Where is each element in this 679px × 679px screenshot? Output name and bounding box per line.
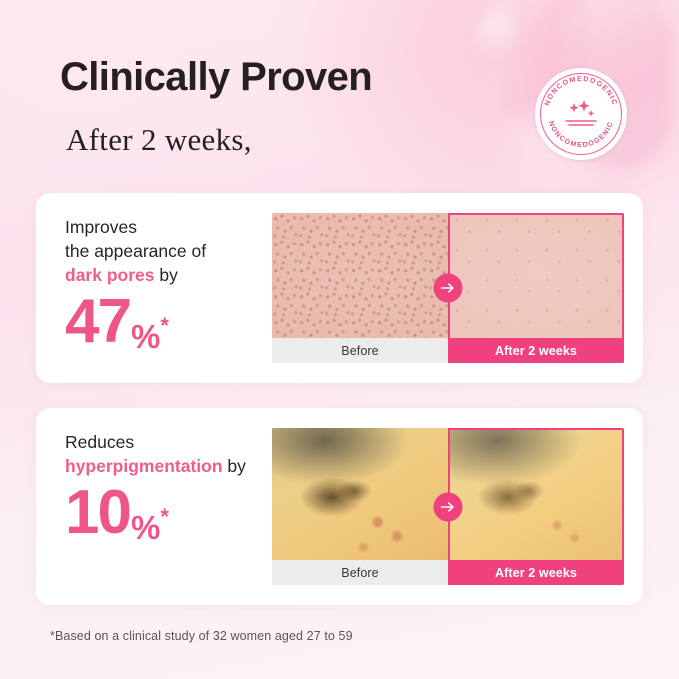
arrow-right-glyph: [441, 282, 456, 295]
stat-line-3: hyperpigmentation by: [65, 454, 280, 478]
stat-highlight: dark pores: [65, 265, 154, 285]
stat-value: 47 % *: [65, 291, 280, 353]
decorative-bubble: [471, 8, 529, 66]
arrow-right-glyph: [441, 500, 456, 513]
stat-percent-sign: %: [131, 511, 159, 544]
stat-description: Reduces hyperpigmentation by: [65, 430, 280, 478]
before-label: Before: [272, 560, 448, 585]
after-label: After 2 weeks: [448, 338, 624, 363]
arrow-right-icon: [434, 274, 463, 303]
stat-number: 47: [65, 291, 130, 353]
noncomedogenic-seal: NONCOMEDOGENIC NONCOMEDOGENIC: [535, 68, 627, 160]
after-label: After 2 weeks: [448, 560, 624, 585]
stat-description: Improves the appearance of dark pores by: [65, 215, 280, 287]
stat-card-text: Reduces hyperpigmentation by 10 % *: [65, 430, 280, 544]
stat-percent-sign: %: [131, 320, 159, 353]
page-title: Clinically Proven: [60, 56, 372, 98]
stat-line-3-suffix: by: [223, 456, 246, 476]
stat-card-hyperpigmentation: Reduces hyperpigmentation by 10 % * Befo…: [36, 408, 643, 605]
before-after-comparison: Before After 2 weeks: [272, 213, 624, 363]
before-after-comparison: Before After 2 weeks: [272, 428, 624, 585]
stat-highlight: hyperpigmentation: [65, 456, 223, 476]
sparkle-jar-icon: [560, 96, 602, 132]
before-label: Before: [272, 338, 448, 363]
stat-line-2: the appearance of: [65, 239, 280, 263]
stat-value: 10 % *: [65, 482, 280, 544]
stat-asterisk: *: [160, 315, 167, 337]
stat-number: 10: [65, 482, 130, 544]
stat-line-3-suffix: by: [154, 265, 177, 285]
infographic-page: Clinically Proven After 2 weeks, NONCOME…: [0, 0, 679, 679]
stat-line-1: Reduces: [65, 430, 280, 454]
after-panel: After 2 weeks: [448, 428, 624, 585]
stat-line-1: Improves: [65, 215, 280, 239]
before-panel: Before: [272, 428, 448, 585]
after-panel: After 2 weeks: [448, 213, 624, 363]
stat-card-text: Improves the appearance of dark pores by…: [65, 215, 280, 353]
stat-card-dark-pores: Improves the appearance of dark pores by…: [36, 193, 643, 383]
stat-asterisk: *: [160, 506, 167, 528]
arrow-right-icon: [434, 492, 463, 521]
stat-line-3: dark pores by: [65, 263, 280, 287]
seal-emblem: [558, 91, 604, 137]
footnote: *Based on a clinical study of 32 women a…: [50, 629, 353, 643]
before-panel: Before: [272, 213, 448, 363]
page-subtitle: After 2 weeks,: [66, 122, 252, 158]
